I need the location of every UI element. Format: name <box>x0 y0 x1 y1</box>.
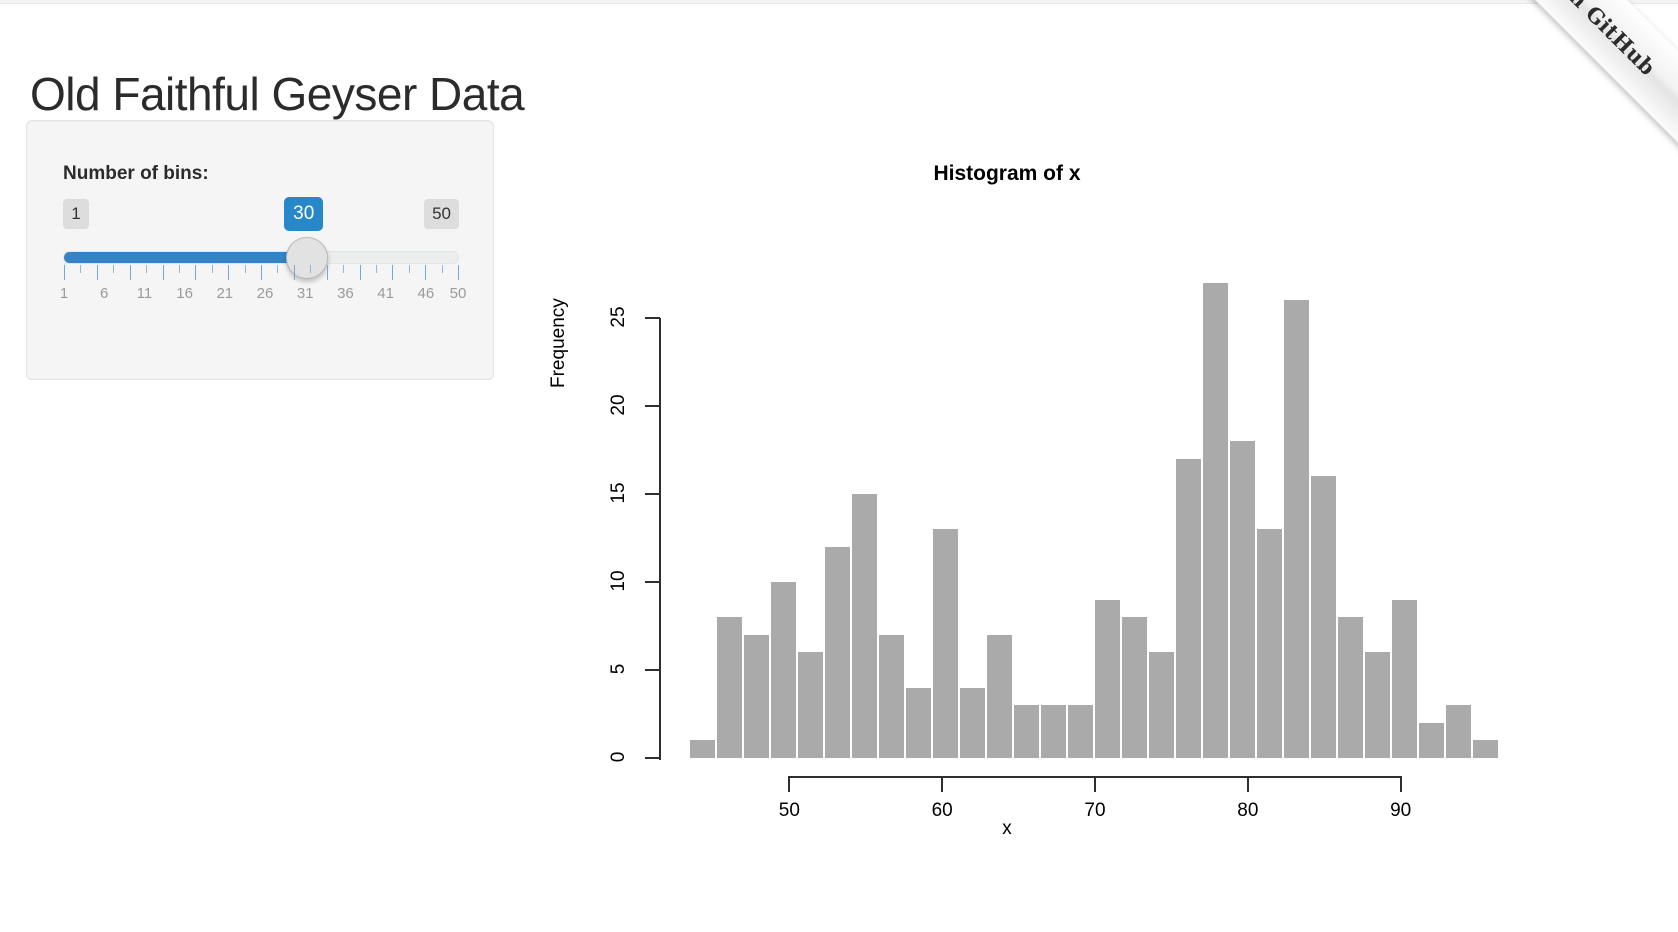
slider-tick <box>376 265 377 273</box>
slider-tick <box>343 265 344 273</box>
slider-tick-marks <box>63 265 459 281</box>
slider-tick-label: 50 <box>450 285 467 302</box>
slider-tick-labels: 16111621263136414650 <box>63 285 459 307</box>
slider-tick <box>64 265 65 280</box>
page-title: Old Faithful Geyser Data <box>30 69 524 120</box>
slider-tick <box>97 265 98 280</box>
histogram-bar <box>1473 740 1498 758</box>
histogram-bar <box>906 688 931 758</box>
histogram-bar <box>1284 300 1309 758</box>
slider-tick <box>425 265 426 280</box>
histogram-bar <box>717 617 742 758</box>
sidebar-panel: Number of bins: 1 30 50 1611162126313641… <box>26 120 494 380</box>
histogram-bar <box>1122 617 1147 758</box>
histogram-bar <box>1446 705 1471 758</box>
slider-tick <box>409 265 410 273</box>
histogram-bar <box>933 529 958 758</box>
histogram-bars <box>540 140 1540 860</box>
histogram-bar <box>771 582 796 758</box>
histogram-bar <box>1392 600 1417 758</box>
histogram-bar <box>1338 617 1363 758</box>
slider-tick <box>310 265 311 273</box>
histogram-bar <box>1365 652 1390 758</box>
slider-tick <box>294 265 295 280</box>
histogram-bar <box>1230 441 1255 758</box>
slider-tick-label: 26 <box>257 285 274 302</box>
slider-tick <box>245 265 246 273</box>
histogram-bar <box>1041 705 1066 758</box>
x-axis-tick <box>1247 776 1249 792</box>
slider-tick <box>80 265 81 273</box>
histogram-bar <box>1149 652 1174 758</box>
slider-tick-label: 1 <box>60 285 68 302</box>
slider-current-value: 30 <box>284 197 323 231</box>
histogram-bar <box>1068 705 1093 758</box>
histogram-bar <box>1257 529 1282 758</box>
histogram-bar <box>987 635 1012 758</box>
histogram-bar <box>690 740 715 758</box>
x-axis-tick <box>788 776 790 792</box>
slider-tick <box>360 265 361 280</box>
slider-max-value: 50 <box>424 199 459 229</box>
slider-tick <box>113 265 114 273</box>
slider-label: Number of bins: <box>63 163 209 185</box>
slider-tick <box>261 265 262 280</box>
slider-tick <box>277 265 278 273</box>
histogram-bar <box>960 688 985 758</box>
histogram-bar <box>744 635 769 758</box>
histogram-bar <box>852 494 877 758</box>
slider-fill <box>64 252 305 263</box>
slider-tick-label: 11 <box>137 285 153 302</box>
slider-tick <box>327 265 328 280</box>
slider-tick <box>146 265 147 273</box>
histogram-bar <box>1203 283 1228 758</box>
slider-tick-label: 6 <box>100 285 108 302</box>
x-axis-label-text: x <box>1002 818 1012 840</box>
slider-min-value: 1 <box>63 199 89 229</box>
histogram-bar <box>1014 705 1039 758</box>
slider-tick <box>163 265 164 280</box>
slider-tick <box>179 265 180 273</box>
x-axis-label: x <box>540 818 1540 840</box>
x-axis-tick <box>941 776 943 792</box>
slider-tick <box>228 265 229 280</box>
slider-tick <box>130 265 131 280</box>
histogram-bar <box>798 652 823 758</box>
slider-tick <box>195 265 196 280</box>
slider-tick-label: 21 <box>216 285 233 302</box>
slider-tick <box>442 265 443 273</box>
slider-tick <box>392 265 393 280</box>
x-axis-tick <box>1094 776 1096 792</box>
histogram-bar <box>1176 459 1201 758</box>
histogram-bar <box>1311 476 1336 758</box>
histogram-bar <box>1095 600 1120 758</box>
slider-track[interactable] <box>63 251 459 264</box>
slider-tick-label: 31 <box>297 285 314 302</box>
histogram-bar <box>879 635 904 758</box>
slider-tick-label: 16 <box>176 285 193 302</box>
histogram-bar <box>1419 723 1444 758</box>
histogram-bar <box>825 547 850 758</box>
x-axis-tick <box>1400 776 1402 792</box>
ribbon-label: Fork me on GitHub <box>1479 0 1661 80</box>
slider-tick-label: 41 <box>377 285 394 302</box>
slider-tick <box>212 265 213 273</box>
slider-tick <box>458 265 459 280</box>
histogram-plot: Histogram of x Frequency 0510152025 5060… <box>540 140 1540 860</box>
bins-slider[interactable]: 1 30 50 16111621263136414650 <box>63 199 459 329</box>
slider-tick-label: 46 <box>417 285 434 302</box>
slider-tick-label: 36 <box>337 285 354 302</box>
top-strip <box>0 0 1678 4</box>
